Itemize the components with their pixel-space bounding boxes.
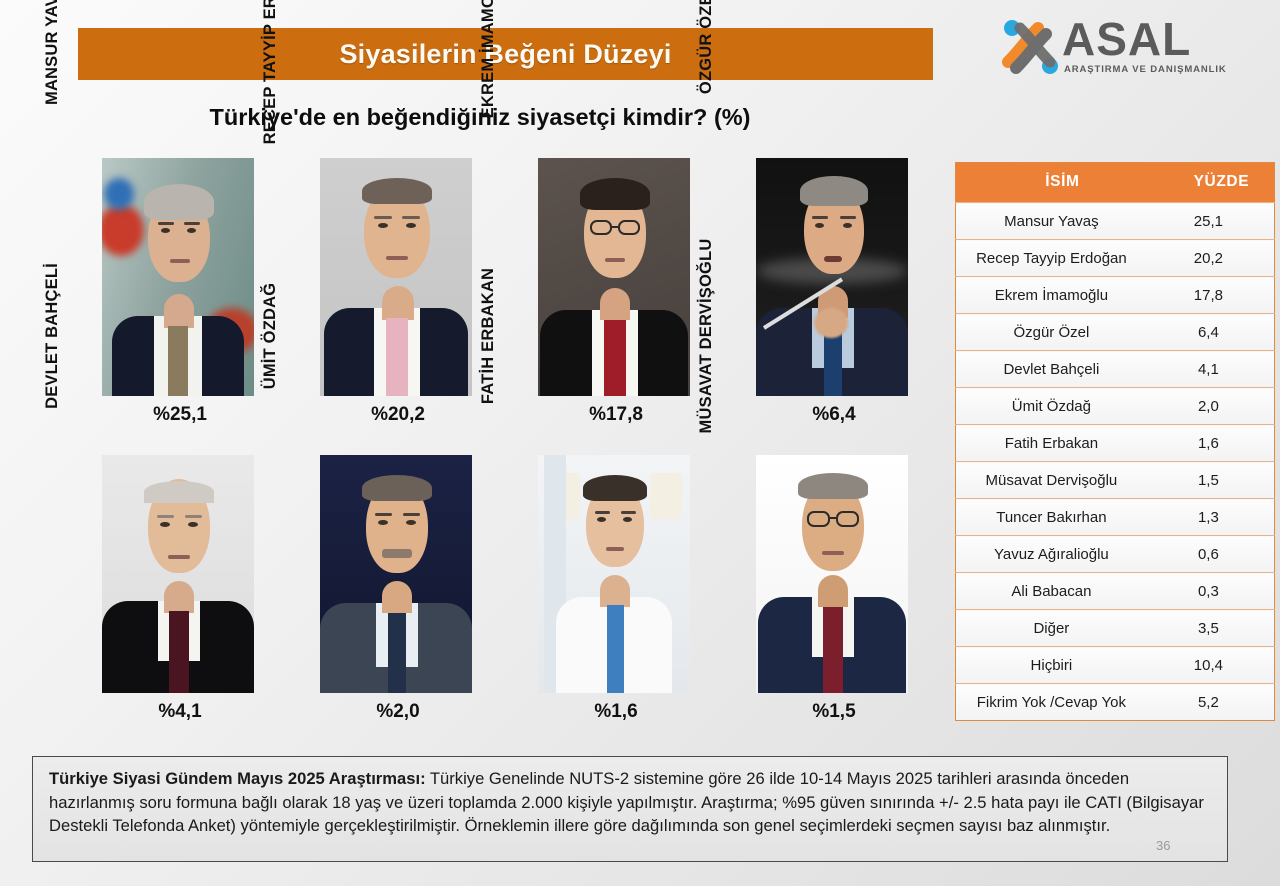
table-cell-name: Fatih Erbakan [956, 425, 1169, 462]
table-row: Devlet Bahçeli4,1 [956, 351, 1275, 388]
glasses-icon [590, 220, 612, 235]
table-cell-value: 6,4 [1169, 314, 1275, 351]
person-photo-ozgur-ozel [756, 158, 908, 396]
table-row: Diğer3,5 [956, 610, 1275, 647]
person-label: ÖZGÜR ÖZEL [697, 0, 716, 158]
table-row: Tuncer Bakırhan1,3 [956, 499, 1275, 536]
person-percent: %20,2 [308, 404, 488, 426]
table-row: Fikrim Yok /Cevap Yok5,2 [956, 684, 1275, 721]
table-cell-name: Özgür Özel [956, 314, 1169, 351]
person-percent: %2,0 [308, 701, 488, 723]
person-label: DEVLET BAHÇELİ [43, 217, 62, 455]
person-percent: %17,8 [526, 404, 706, 426]
person-label: MANSUR YAVAŞ [43, 0, 62, 158]
person-percent: %25,1 [90, 404, 270, 426]
person-label: MÜSAVAT DERVİŞOĞLU [697, 217, 716, 455]
table-header-row: İSİM YÜZDE [956, 163, 1275, 203]
person-percent: %1,6 [526, 701, 706, 723]
asal-logo: ASAL ARAŞTIRMA VE DANIŞMANLIK [1000, 14, 1225, 92]
asal-logo-text: ASAL ARAŞTIRMA VE DANIŞMANLIK [1062, 14, 1225, 92]
person-photo-mansur-yavas [102, 158, 254, 396]
person-photo-fatih-erbakan [538, 455, 690, 693]
person-photo-ekrem-imamoglu [538, 158, 690, 396]
table-header: İSİM YÜZDE [956, 163, 1275, 203]
asal-logo-mark [1000, 18, 1062, 76]
glasses-icon [836, 511, 859, 527]
person-label: EKREM İMAMOĞLU [479, 0, 498, 158]
table-row: Yavuz Ağıralioğlu0,6 [956, 536, 1275, 573]
table-cell-value: 1,3 [1169, 499, 1275, 536]
table-row: Mansur Yavaş25,1 [956, 203, 1275, 240]
header-bar: Siyasilerin Beğeni Düzeyi [78, 28, 933, 80]
table-row: Müsavat Dervişoğlu1,5 [956, 462, 1275, 499]
person-photo-recep-tayyip-erdogan [320, 158, 472, 396]
table-cell-name: Ümit Özdağ [956, 388, 1169, 425]
person-percent: %4,1 [90, 701, 270, 723]
table-cell-value: 4,1 [1169, 351, 1275, 388]
person-photo-musavat-dervisoglu [756, 455, 908, 693]
table-cell-value: 10,4 [1169, 647, 1275, 684]
table-cell-name: Hiçbiri [956, 647, 1169, 684]
table-row: Ali Babacan0,3 [956, 573, 1275, 610]
person-label: RECEP TAYYİP ERDOĞAN [261, 0, 280, 158]
table-cell-name: Recep Tayyip Erdoğan [956, 240, 1169, 277]
table-cell-name: Fikrim Yok /Cevap Yok [956, 684, 1169, 721]
table-row: Özgür Özel6,4 [956, 314, 1275, 351]
person-photo-umit-ozdag [320, 455, 472, 693]
person-photo-devlet-bahceli [102, 455, 254, 693]
table-body: Mansur Yavaş25,1Recep Tayyip Erdoğan20,2… [956, 203, 1275, 721]
table-cell-name: Ekrem İmamoğlu [956, 277, 1169, 314]
table-row: Fatih Erbakan1,6 [956, 425, 1275, 462]
table-row: Ekrem İmamoğlu17,8 [956, 277, 1275, 314]
table-row: Recep Tayyip Erdoğan20,2 [956, 240, 1275, 277]
table-cell-value: 3,5 [1169, 610, 1275, 647]
page-title: Siyasilerin Beğeni Düzeyi [339, 39, 671, 70]
table-cell-value: 1,5 [1169, 462, 1275, 499]
table-cell-name: Mansur Yavaş [956, 203, 1169, 240]
table-cell-name: Yavuz Ağıralioğlu [956, 536, 1169, 573]
person-label: FATİH ERBAKAN [479, 217, 498, 455]
table-cell-value: 1,6 [1169, 425, 1275, 462]
table-cell-value: 5,2 [1169, 684, 1275, 721]
table-cell-name: Ali Babacan [956, 573, 1169, 610]
table-cell-name: Tuncer Bakırhan [956, 499, 1169, 536]
asal-logo-word: ASAL [1062, 16, 1191, 62]
glasses-icon [618, 220, 640, 235]
table-row: Ümit Özdağ2,0 [956, 388, 1275, 425]
column-header-value: YÜZDE [1169, 163, 1275, 203]
glasses-icon [807, 511, 830, 527]
table-cell-name: Diğer [956, 610, 1169, 647]
results-table: İSİM YÜZDE Mansur Yavaş25,1Recep Tayyip … [955, 162, 1275, 721]
table-cell-value: 2,0 [1169, 388, 1275, 425]
person-label: ÜMİT ÖZDAĞ [261, 217, 280, 455]
person-percent: %6,4 [744, 404, 924, 426]
footnote-lead: Türkiye Siyasi Gündem Mayıs 2025 Araştır… [49, 769, 426, 788]
table-row: Hiçbiri10,4 [956, 647, 1275, 684]
table-cell-value: 17,8 [1169, 277, 1275, 314]
asal-logo-subtitle: ARAŞTIRMA VE DANIŞMANLIK [1064, 64, 1227, 75]
table-cell-value: 0,3 [1169, 573, 1275, 610]
table-cell-value: 25,1 [1169, 203, 1275, 240]
table-cell-value: 20,2 [1169, 240, 1275, 277]
table-cell-name: Müsavat Dervişoğlu [956, 462, 1169, 499]
footnote-box: Türkiye Siyasi Gündem Mayıs 2025 Araştır… [32, 756, 1228, 862]
column-header-name: İSİM [956, 163, 1169, 203]
table-cell-name: Devlet Bahçeli [956, 351, 1169, 388]
person-percent: %1,5 [744, 701, 924, 723]
table-cell-value: 0,6 [1169, 536, 1275, 573]
page-number: 36 [1156, 838, 1170, 853]
